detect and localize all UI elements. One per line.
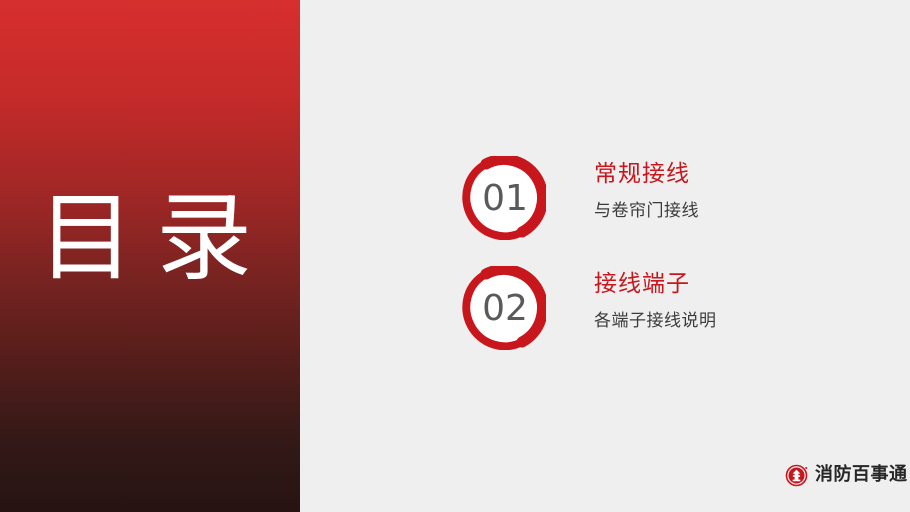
toc-title-02: 接线端子 [594,270,717,298]
toc-subtitle-02: 各端子接线说明 [594,310,717,332]
left-red-panel: 目录 [0,0,300,512]
page-title: 目录 [38,186,274,290]
toc-item-01[interactable]: 01 常规接线 与卷帘门接线 [300,152,910,252]
toc-subtitle-01: 与卷帘门接线 [594,200,699,222]
brand-name: 消防百事通 [815,464,908,486]
toc-number-01: 01 [462,156,546,240]
toc-item-02[interactable]: 02 接线端子 各端子接线说明 [300,262,910,362]
brand-logo: 消防百事通 [785,463,908,487]
toc-text-block-01: 常规接线 与卷帘门接线 [594,160,699,222]
toc-number-badge-02: 02 [462,266,546,350]
toc-content-area: 01 常规接线 与卷帘门接线 02 接线端子 各端子接线说明 [300,0,910,512]
toc-title-01: 常规接线 [594,160,699,188]
fire-shield-circle-icon [785,463,809,487]
toc-text-block-02: 接线端子 各端子接线说明 [594,270,717,332]
toc-number-02: 02 [462,266,546,350]
toc-number-badge-01: 01 [462,156,546,240]
slide-root: 目录 01 常规接线 与卷帘门接线 [0,0,910,512]
